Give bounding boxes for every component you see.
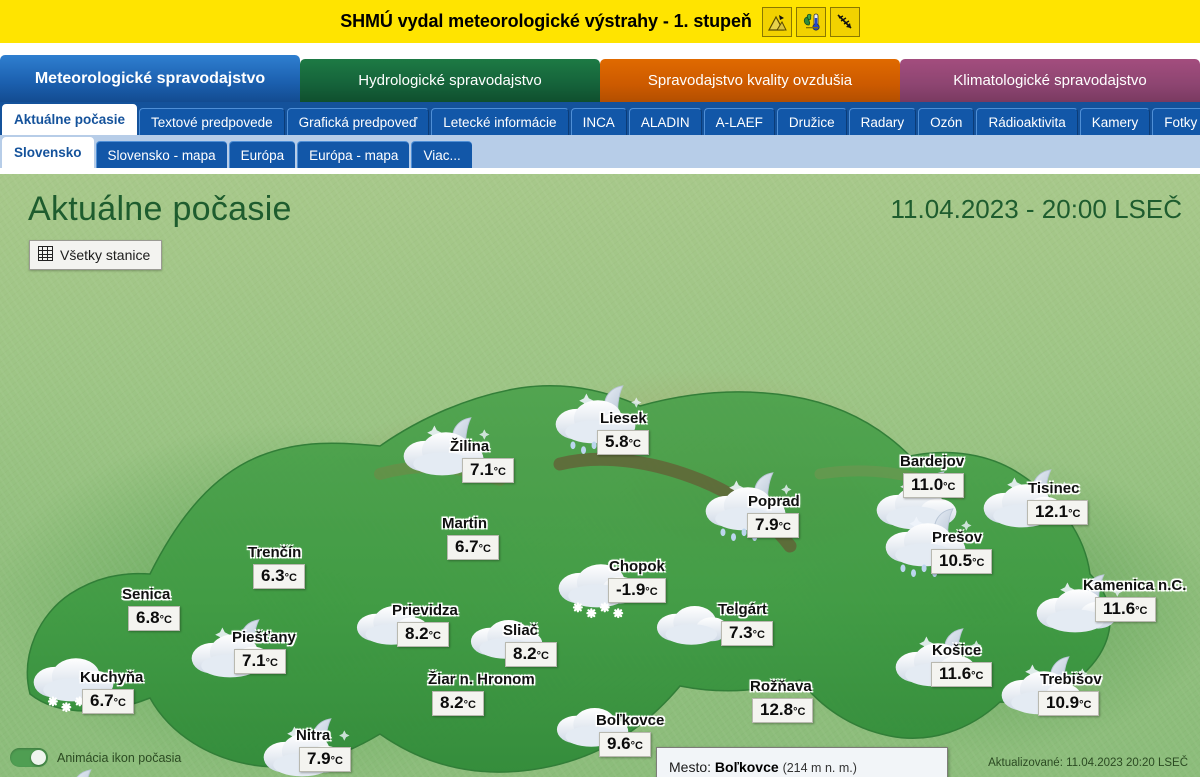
subtab-row-2: Slovensko Slovensko - mapa Európa Európa… [0, 135, 1200, 168]
station-name[interactable]: Žilina [450, 438, 489, 455]
station-name[interactable]: Trebišov [1040, 671, 1102, 688]
station-temperature[interactable]: 7.3°C [721, 621, 773, 646]
section-tab-label: Hydrologické spravodajstvo [358, 72, 541, 89]
weather-map[interactable]: Aktuálne počasie 11.04.2023 - 20:00 LSEČ… [0, 174, 1200, 777]
subtab-textove-predpovede[interactable]: Textové predpovede [139, 108, 285, 135]
subtab-label: Družice [789, 115, 835, 130]
all-stations-label: Všetky stanice [60, 247, 150, 263]
subtab-aktualne-pocasie[interactable]: Aktuálne počasie [2, 104, 137, 135]
station-temperature[interactable]: 6.3°C [253, 564, 305, 589]
station-name[interactable]: Tisinec [1028, 480, 1079, 497]
subtab-label: Letecké informácie [443, 115, 556, 130]
station-info-panel: Mesto: Boľkovce (214 m n. m.) Teplota: 9… [656, 747, 948, 777]
station-temperature[interactable]: 11.0°C [903, 473, 964, 498]
wind-warning-icon[interactable] [830, 7, 860, 37]
weather-icon-cloudy [374, 766, 460, 777]
station-temperature[interactable]: 5.8°C [597, 430, 649, 455]
page-title: Aktuálne počasie [28, 190, 292, 229]
station-name[interactable]: Sliač [503, 622, 538, 639]
toggle-knob [31, 750, 46, 765]
map-datetime: 11.04.2023 - 20:00 LSEČ [890, 194, 1182, 225]
station-name[interactable]: Chopok [609, 558, 665, 575]
subtab-label: Radary [861, 115, 905, 130]
subtab-label: Fotky [1164, 115, 1197, 130]
station-temperature[interactable]: 9.6°C [599, 732, 651, 757]
station-name[interactable]: Telgárt [718, 601, 767, 618]
station-temperature[interactable]: 10.9°C [1038, 691, 1099, 716]
station-name[interactable]: Trenčín [248, 544, 301, 561]
info-city-label: Mesto: [669, 759, 711, 775]
station-temperature[interactable]: 7.1°C [234, 649, 286, 674]
station-name[interactable]: Piešťany [232, 629, 296, 646]
weather-page: SHMÚ vydal meteorologické výstrahy - 1. … [0, 0, 1200, 777]
warning-icon-group [762, 7, 860, 37]
subtab-row: Aktuálne počasie Textové predpovede Graf… [0, 102, 1200, 135]
warning-text: SHMÚ vydal meteorologické výstrahy - 1. … [340, 11, 752, 32]
subtab-letecke-informacie[interactable]: Letecké informácie [431, 108, 568, 135]
station-temperature[interactable]: 8.2°C [432, 691, 484, 716]
info-city-value: Boľkovce [715, 759, 779, 775]
landslide-warning-icon[interactable] [762, 7, 792, 37]
station-name[interactable]: Prievidza [392, 602, 458, 619]
subtab-a-laef[interactable]: A-LAEF [704, 108, 775, 135]
subtab2-label: Európa - mapa [309, 148, 398, 163]
subtab-label: INCA [583, 115, 615, 130]
station-name[interactable]: Boľkovce [596, 712, 664, 729]
subtab-label: Ozón [930, 115, 962, 130]
station-name[interactable]: Košice [932, 642, 981, 659]
station-temperature[interactable]: 8.2°C [505, 642, 557, 667]
banner-spacer [0, 43, 1200, 55]
subtab2-viac[interactable]: Viac... [411, 141, 471, 168]
section-tabs: Meteorologické spravodajstvo Hydrologick… [0, 55, 1200, 102]
subtab2-label: Viac... [423, 148, 460, 163]
station-temperature[interactable]: 7.9°C [747, 513, 799, 538]
subtab-label: Aktuálne počasie [14, 112, 125, 127]
subtab2-label: Slovensko - mapa [108, 148, 216, 163]
station-temperature[interactable]: 7.9°C [299, 747, 351, 772]
updated-timestamp: Aktualizované: 11.04.2023 20:20 LSEČ [988, 757, 1188, 769]
animation-toggle-label: Animácia ikon počasia [57, 751, 181, 765]
station-name[interactable]: Kamenica n.C. [1083, 577, 1186, 594]
station-name[interactable]: Žiar n. Hronom [428, 671, 535, 688]
animation-toggle[interactable] [10, 748, 48, 767]
subtab2-label: Slovensko [14, 145, 82, 160]
station-temperature[interactable]: 8.2°C [397, 622, 449, 647]
section-tab-label: Klimatologické spravodajstvo [953, 72, 1146, 89]
station-temperature[interactable]: 11.6°C [1095, 597, 1156, 622]
animation-toggle-group[interactable]: Animácia ikon počasia [10, 748, 181, 767]
subtab-druzice[interactable]: Družice [777, 108, 847, 135]
station-name[interactable]: Rožňava [750, 678, 812, 695]
section-tab-hydrologicke[interactable]: Hydrologické spravodajstvo [300, 59, 600, 102]
station-temperature[interactable]: 12.8°C [752, 698, 813, 723]
station-name[interactable]: Liesek [600, 410, 647, 427]
station-name[interactable]: Kuchyňa [80, 669, 143, 686]
subtab2-europa[interactable]: Európa [229, 141, 296, 168]
station-name[interactable]: Poprad [748, 493, 800, 510]
subtab2-slovensko[interactable]: Slovensko [2, 137, 94, 168]
station-name[interactable]: Prešov [932, 529, 982, 546]
table-grid-icon [38, 246, 53, 264]
subtab-graficka-predpoved[interactable]: Grafická predpoveď [287, 108, 430, 135]
subtab2-label: Európa [241, 148, 285, 163]
subtab-kamery[interactable]: Kamery [1080, 108, 1151, 135]
section-tab-meteorologicke[interactable]: Meteorologické spravodajstvo [0, 55, 300, 102]
station-temperature[interactable]: 6.8°C [128, 606, 180, 631]
station-temperature[interactable]: 7.1°C [462, 458, 514, 483]
subtab-label: A-LAEF [716, 115, 763, 130]
subtab-radary[interactable]: Radary [849, 108, 917, 135]
station-temperature[interactable]: 12.1°C [1027, 500, 1088, 525]
info-city: Mesto: Boľkovce (214 m n. m.) [669, 757, 935, 777]
section-tab-label: Spravodajstvo kvality ovzdušia [648, 72, 852, 89]
station-name[interactable]: Martin [442, 515, 487, 532]
all-stations-button[interactable]: Všetky stanice [29, 240, 162, 270]
subtab2-slovensko-mapa[interactable]: Slovensko - mapa [96, 141, 227, 168]
subtab-aladin[interactable]: ALADIN [629, 108, 702, 135]
station-name[interactable]: Bardejov [900, 453, 964, 470]
section-tab-klimatologicke[interactable]: Klimatologické spravodajstvo [900, 59, 1200, 102]
subtab-label: Textové predpovede [151, 115, 273, 130]
station-temperature[interactable]: 6.7°C [447, 535, 499, 560]
subtab-label: Rádioaktivita [988, 115, 1065, 130]
station-name[interactable]: Nitra [296, 727, 330, 744]
subtab2-europa-mapa[interactable]: Európa - mapa [297, 141, 409, 168]
info-altitude-value: (214 m n. m.) [783, 761, 857, 775]
frost-warning-icon[interactable] [796, 7, 826, 37]
subtab-inca[interactable]: INCA [571, 108, 627, 135]
weather-warning-banner[interactable]: SHMÚ vydal meteorologické výstrahy - 1. … [0, 0, 1200, 43]
station-temperature[interactable]: 11.6°C [931, 662, 992, 687]
subtab-label: ALADIN [641, 115, 690, 130]
station-name[interactable]: Senica [122, 586, 170, 603]
station-temperature[interactable]: 10.5°C [931, 549, 992, 574]
subtab-radioaktivita[interactable]: Rádioaktivita [976, 108, 1077, 135]
station-temperature[interactable]: 6.7°C [82, 689, 134, 714]
subtab-fotky[interactable]: Fotky [1152, 108, 1200, 135]
subtab-label: Grafická predpoveď [299, 115, 418, 130]
subtab-ozon[interactable]: Ozón [918, 108, 974, 135]
subtab-label: Kamery [1092, 115, 1139, 130]
section-tab-label: Meteorologické spravodajstvo [35, 70, 265, 88]
section-tab-kvalita-ovzdusia[interactable]: Spravodajstvo kvality ovzdušia [600, 59, 900, 102]
